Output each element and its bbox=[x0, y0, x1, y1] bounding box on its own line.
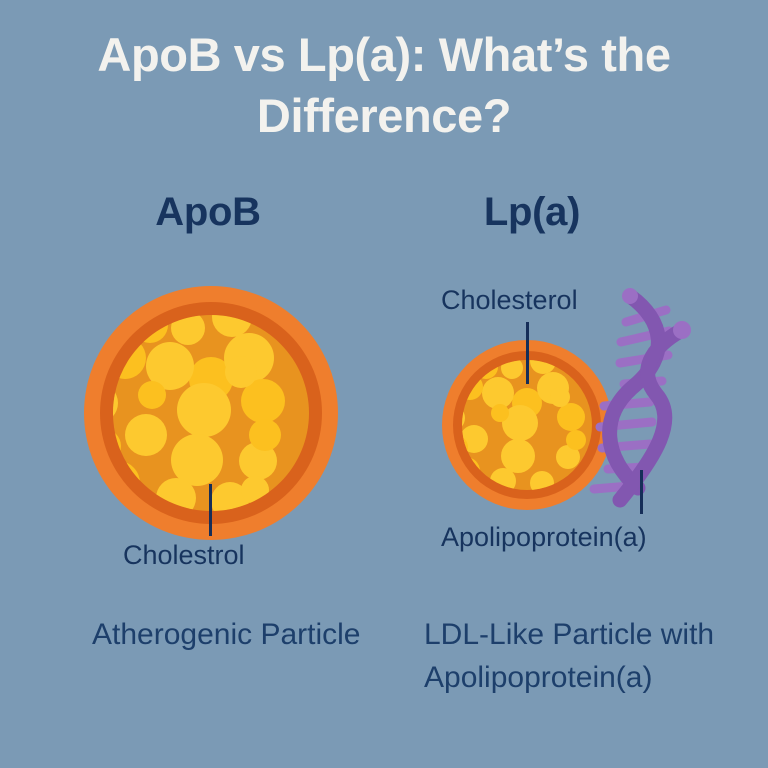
leader-line-cholesterol-lpa bbox=[526, 322, 529, 384]
cholesterol-dot bbox=[138, 381, 166, 409]
cholesterol-dot bbox=[177, 383, 231, 437]
cholesterol-dot bbox=[490, 468, 516, 490]
column-heading-apob: ApoB bbox=[88, 190, 328, 235]
callout-label-cholesterol-lpa: Cholesterol bbox=[441, 285, 578, 316]
infographic-canvas: ApoB vs Lp(a): What’s the Difference? Ap… bbox=[0, 0, 768, 768]
cholesterol-dot bbox=[557, 403, 585, 431]
cholesterol-dot bbox=[550, 387, 570, 407]
cholesterol-dot bbox=[462, 364, 478, 380]
cholesterol-dot bbox=[171, 315, 205, 345]
cholesterol-dot bbox=[530, 471, 554, 490]
cholesterol-dot bbox=[501, 360, 523, 379]
caption-apob: Atherogenic Particle bbox=[92, 614, 382, 657]
callout-label-apolipoprotein: Apolipoprotein(a) bbox=[441, 522, 647, 553]
leader-line-apolipoprotein bbox=[640, 470, 643, 514]
leader-line-cholesterol-apob bbox=[209, 484, 212, 536]
apob-particle-core bbox=[113, 315, 309, 511]
cholesterol-dot bbox=[156, 478, 196, 511]
cholesterol-dot bbox=[491, 404, 509, 422]
apolipoprotein-a-dna-helix-icon bbox=[586, 286, 710, 510]
cholesterol-dot bbox=[566, 430, 586, 450]
cholesterol-dot bbox=[125, 414, 167, 456]
cholesterol-dot bbox=[225, 356, 257, 388]
cholesterol-dot bbox=[249, 419, 281, 451]
page-title: ApoB vs Lp(a): What’s the Difference? bbox=[54, 24, 714, 146]
column-heading-lpa: Lp(a) bbox=[437, 190, 627, 235]
callout-label-cholesterol-apob: Cholestrol bbox=[123, 540, 245, 571]
caption-lpa: LDL-Like Particle with Apolipoprotein(a) bbox=[424, 614, 754, 699]
cholesterol-dot bbox=[241, 476, 269, 504]
